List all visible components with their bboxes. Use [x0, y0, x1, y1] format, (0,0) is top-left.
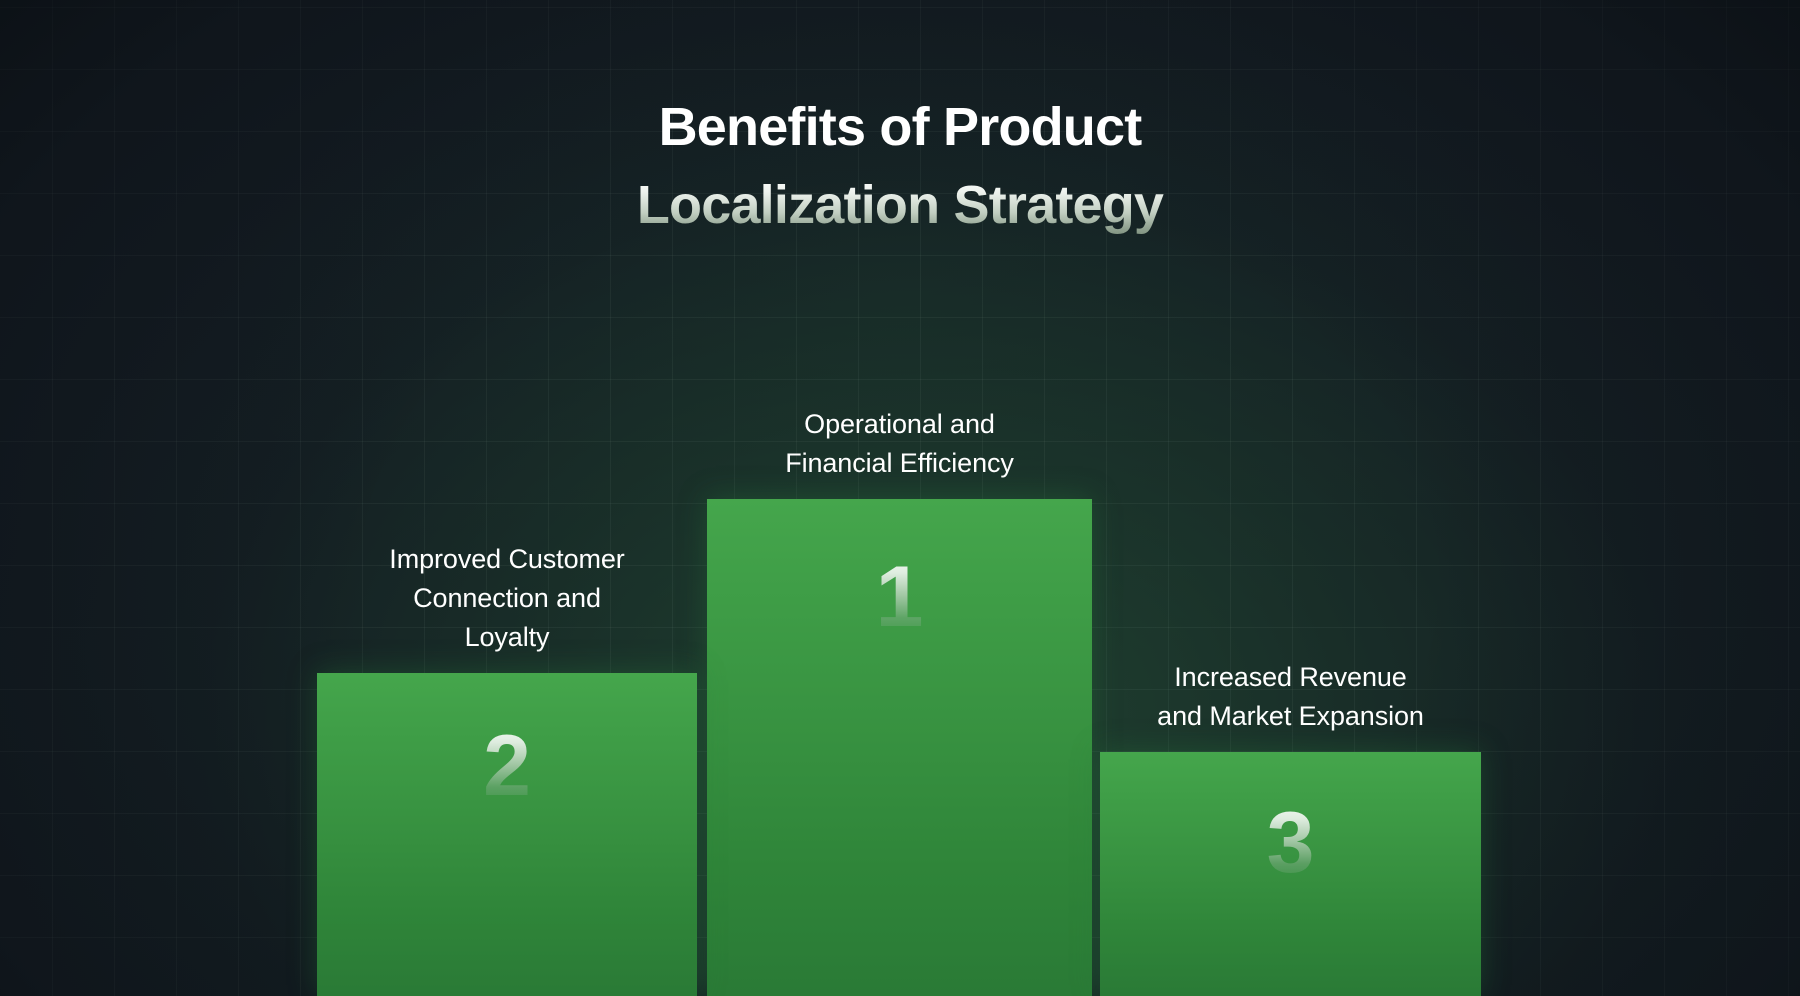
- podium-label-third-line-1: Increased Revenue: [1076, 658, 1506, 697]
- page-title: Benefits of Product Localization Strateg…: [0, 96, 1800, 236]
- podium-label-third: Increased Revenue and Market Expansion: [1076, 658, 1506, 736]
- podium-item-first: Operational and Financial Efficiency 1: [707, 499, 1092, 996]
- podium-label-second: Improved Customer Connection and Loyalty: [297, 540, 717, 657]
- podium-label-second-line-2: Connection and: [297, 579, 717, 618]
- podium-item-second: Improved Customer Connection and Loyalty…: [317, 673, 697, 996]
- podium-label-second-line-1: Improved Customer: [297, 540, 717, 579]
- podium-item-third: Increased Revenue and Market Expansion 3: [1100, 752, 1481, 996]
- title-line-primary: Benefits of Product: [0, 96, 1800, 158]
- podium-bar-second: 2: [317, 673, 697, 996]
- podium-label-first-line-1: Operational and: [665, 405, 1135, 444]
- podium-rank-first: 1: [707, 554, 1092, 640]
- podium-label-third-line-2: and Market Expansion: [1076, 697, 1506, 736]
- podium-rank-second: 2: [317, 723, 697, 809]
- podium-label-first-line-2: Financial Efficiency: [665, 444, 1135, 483]
- podium-label-second-line-3: Loyalty: [297, 618, 717, 657]
- slide-canvas: Benefits of Product Localization Strateg…: [0, 0, 1800, 996]
- podium-bar-third: 3: [1100, 752, 1481, 996]
- podium-rank-third: 3: [1100, 800, 1481, 886]
- title-line-secondary: Localization Strategy: [0, 174, 1800, 236]
- podium-bar-first: 1: [707, 499, 1092, 996]
- podium-label-first: Operational and Financial Efficiency: [665, 405, 1135, 483]
